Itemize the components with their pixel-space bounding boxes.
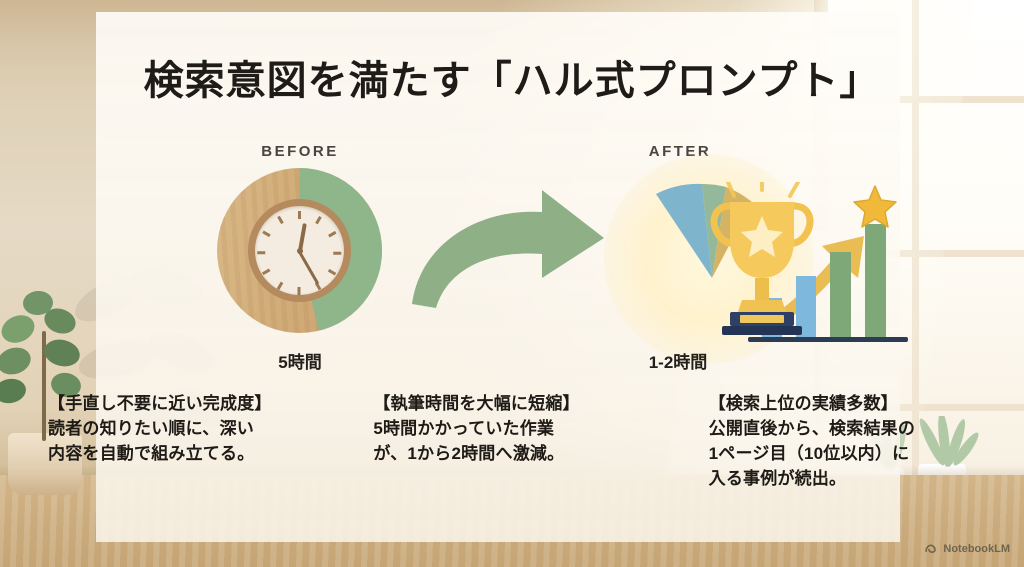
clock-center-pin: [297, 248, 303, 254]
clock-face: [248, 199, 351, 302]
star-icon: [854, 186, 896, 227]
benefit-column: 【執筆時間を大幅に短縮】 5時間かかっていた作業 が、1から2時間へ激減。: [341, 392, 682, 492]
clock-minute-hand: [298, 250, 319, 284]
before-label: BEFORE: [220, 143, 380, 160]
after-graphic: [598, 160, 898, 355]
curved-right-arrow-icon: [408, 186, 608, 316]
notebooklm-watermark: NotebookLM: [925, 542, 1010, 555]
benefit-text: 【検索上位の実績多数】 公開直後から、検索結果の 1ページ目（10位以内）に 入…: [691, 392, 1016, 492]
benefit-text: 【手直し不要に近い完成度】 読者の知りたい順に、深い 内容を自動で組み立てる。: [8, 392, 333, 467]
benefit-columns: 【手直し不要に近い完成度】 読者の知りたい順に、深い 内容を自動で組み立てる。 …: [0, 392, 1024, 492]
notebooklm-logo-icon: [925, 542, 938, 555]
watermark-label: NotebookLM: [943, 543, 1010, 555]
before-value: 5時間: [220, 348, 380, 373]
before-clock-graphic: [217, 168, 382, 333]
trophy-icon: [694, 182, 834, 342]
after-value: 1-2時間: [598, 348, 758, 373]
benefit-column: 【検索上位の実績多数】 公開直後から、検索結果の 1ページ目（10位以内）に 入…: [683, 392, 1024, 492]
page-title: 検索意図を満たす「ハル式プロンプト」: [0, 48, 1024, 106]
benefit-text: 【執筆時間を大幅に短縮】 5時間かかっていた作業 が、1から2時間へ激減。: [349, 392, 674, 467]
benefit-column: 【手直し不要に近い完成度】 読者の知りたい順に、深い 内容を自動で組み立てる。: [0, 392, 341, 492]
infographic-stage: 検索意図を満たす「ハル式プロンプト」 BEFORE 5時間 AFTER: [0, 0, 1024, 567]
